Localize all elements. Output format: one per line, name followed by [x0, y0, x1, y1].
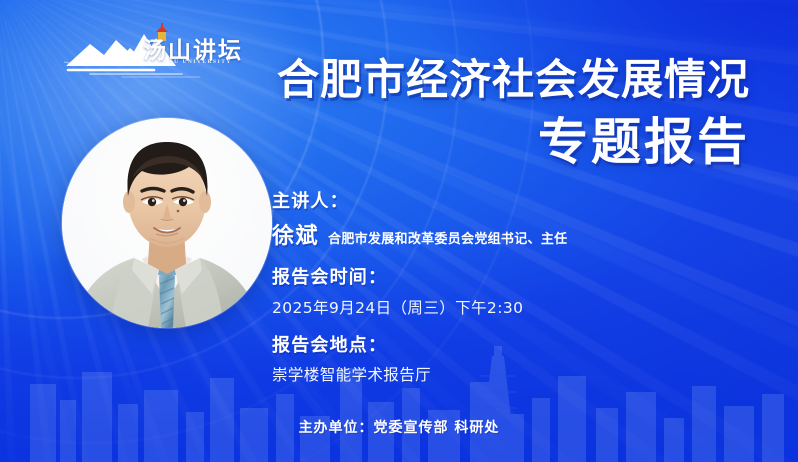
place-value: 崇学楼智能学术报告厅 [272, 363, 772, 385]
title-line-1: 合肥市经济社会发展情况 [277, 58, 750, 102]
speaker-portrait-image [62, 118, 272, 328]
logo-english-name: CHAOHU UNIVERSITY [146, 59, 232, 65]
speaker-name: 徐斌 [272, 218, 319, 250]
spacer [272, 250, 772, 266]
title-line-2: 专题报告 [277, 116, 750, 168]
event-details: 主讲人： 徐斌 合肥市发展和改革委员会党组书记、主任 报告会时间： 2025年9… [272, 190, 772, 385]
event-poster: 汤山讲坛 CHAOHU UNIVERSITY [0, 0, 798, 462]
place-label: 报告会地点： [272, 334, 772, 357]
brand-logo: 汤山讲坛 CHAOHU UNIVERSITY [60, 22, 240, 78]
speaker-label: 主讲人： [272, 190, 772, 213]
poster-title: 合肥市经济社会发展情况 专题报告 [277, 58, 750, 168]
speaker-row: 徐斌 合肥市发展和改革委员会党组书记、主任 [272, 218, 772, 250]
time-value: 2025年9月24日（周三）下午2:30 [272, 296, 772, 318]
time-label: 报告会时间： [272, 266, 772, 289]
spacer [272, 318, 772, 334]
speaker-portrait [62, 118, 272, 328]
speaker-title: 合肥市发展和改革委员会党组书记、主任 [328, 228, 567, 247]
organizer-footer: 主办单位：党委宣传部 科研处 [0, 417, 798, 437]
